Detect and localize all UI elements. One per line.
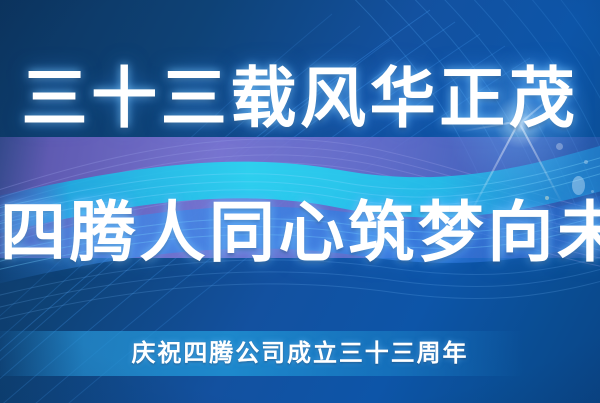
bokeh-circle-4 bbox=[591, 190, 594, 193]
headline-line-1: 三十三载风华正茂 bbox=[0, 62, 600, 134]
bokeh-circle-3 bbox=[584, 160, 588, 164]
bokeh-circle-1 bbox=[572, 176, 585, 195]
bokeh-circle-2 bbox=[556, 143, 563, 150]
headline-line-2: 四腾人同心筑梦向未来 bbox=[0, 196, 600, 268]
anniversary-banner: 三十三载风华正茂 四腾人同心筑梦向未来 庆祝四腾公司成立三十三周年 bbox=[0, 0, 600, 403]
subtitle-text: 庆祝四腾公司成立三十三周年 bbox=[0, 338, 600, 370]
